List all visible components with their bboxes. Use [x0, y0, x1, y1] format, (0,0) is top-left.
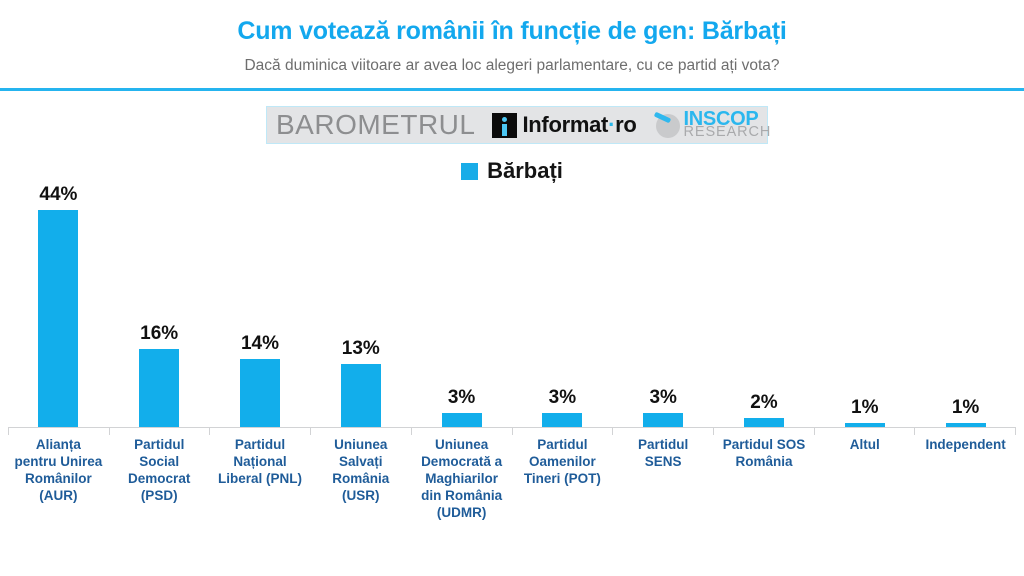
chart-subtitle: Dacă duminica viitoare ar avea loc alege…: [0, 57, 1024, 74]
x-axis-tick: [512, 428, 613, 435]
x-axis-tick: [209, 428, 310, 435]
x-axis-category-label: Uniunea Democrată a Maghiarilor din Româ…: [411, 437, 512, 521]
bar-slot: 44%: [8, 190, 109, 428]
inscop-wordmark: INSCOP RESEARCH: [684, 111, 772, 139]
x-axis-tick: [109, 428, 210, 435]
x-axis-category-label: Uniunea Salvați România (USR): [310, 437, 411, 521]
informat-tld: ro: [615, 112, 636, 137]
bar-slot: 14%: [210, 190, 311, 428]
bar[interactable]: [542, 413, 582, 428]
x-axis-ticks: [8, 428, 1016, 435]
bar-value-label: 3%: [448, 388, 475, 407]
x-axis-category-label: Partidul Național Liberal (PNL): [210, 437, 311, 521]
bar-value-label: 2%: [750, 393, 777, 412]
bar-value-label: 3%: [649, 388, 676, 407]
bar-value-label: 16%: [140, 324, 178, 343]
x-axis-category-label: Partidul SENS: [613, 437, 714, 521]
x-axis-tick: [8, 428, 109, 435]
bar-slot: 13%: [310, 190, 411, 428]
legend-label-barbati: Bărbați: [487, 160, 563, 182]
x-axis-category-label: Partidul SOS România: [714, 437, 815, 521]
bar-slot: 3%: [613, 190, 714, 428]
inscop-gauge-icon: [653, 111, 682, 140]
bar-value-label: 44%: [39, 185, 77, 204]
x-axis-category-label: Partidul Oamenilor Tineri (POT): [512, 437, 613, 521]
bar-series-barbati: 44%16%14%13%3%3%3%2%1%1%: [8, 190, 1016, 428]
barometrul-wordmark: BAROMETRUL: [276, 111, 475, 139]
bar[interactable]: [442, 413, 482, 428]
bar[interactable]: [643, 413, 683, 428]
x-axis-tick: [814, 428, 915, 435]
x-axis-tick: [914, 428, 1016, 435]
inscop-logo: INSCOP RESEARCH: [653, 111, 772, 140]
bar-value-label: 3%: [549, 388, 576, 407]
bar-slot: 3%: [411, 190, 512, 428]
legend-swatch-barbati: [461, 163, 478, 180]
x-axis-category-label: Independent: [915, 437, 1016, 521]
bar[interactable]: [139, 349, 179, 428]
x-axis-category-label: Alianța pentru Unirea Românilor (AUR): [8, 437, 109, 521]
informat-icon: [492, 113, 517, 138]
x-axis-tick: [612, 428, 713, 435]
bar-slot: 1%: [915, 190, 1016, 428]
bar-value-label: 14%: [241, 334, 279, 353]
logo-strip: BAROMETRUL Informat·ro INSCOP RESEARCH: [266, 106, 768, 144]
header-divider: [0, 88, 1024, 91]
informat-wordmark: Informat·ro: [522, 114, 636, 136]
x-axis-category-label: Partidul Social Democrat (PSD): [109, 437, 210, 521]
x-axis-category-label: Altul: [814, 437, 915, 521]
x-axis-tick: [411, 428, 512, 435]
bar[interactable]: [240, 359, 280, 428]
bar[interactable]: [38, 210, 78, 428]
x-axis-tick: [713, 428, 814, 435]
bar-value-label: 1%: [952, 398, 979, 417]
bar-value-label: 1%: [851, 398, 878, 417]
informat-name: Informat: [522, 112, 608, 137]
bar-slot: 2%: [714, 190, 815, 428]
chart-header: Cum votează românii în funcție de gen: B…: [0, 0, 1024, 91]
bar-slot: 3%: [512, 190, 613, 428]
inscop-tagline: RESEARCH: [684, 127, 772, 139]
page-title: Cum votează românii în funcție de gen: B…: [0, 18, 1024, 46]
bar-slot: 1%: [814, 190, 915, 428]
chart-legend: Bărbați: [0, 160, 1024, 182]
informat-logo: Informat·ro: [492, 113, 636, 138]
bar-value-label: 13%: [342, 339, 380, 358]
x-axis-tick: [310, 428, 411, 435]
plot-area: 44%16%14%13%3%3%3%2%1%1%: [8, 190, 1016, 428]
bar-slot: 16%: [109, 190, 210, 428]
bar[interactable]: [341, 364, 381, 428]
x-axis-category-labels: Alianța pentru Unirea Românilor (AUR)Par…: [8, 437, 1016, 521]
